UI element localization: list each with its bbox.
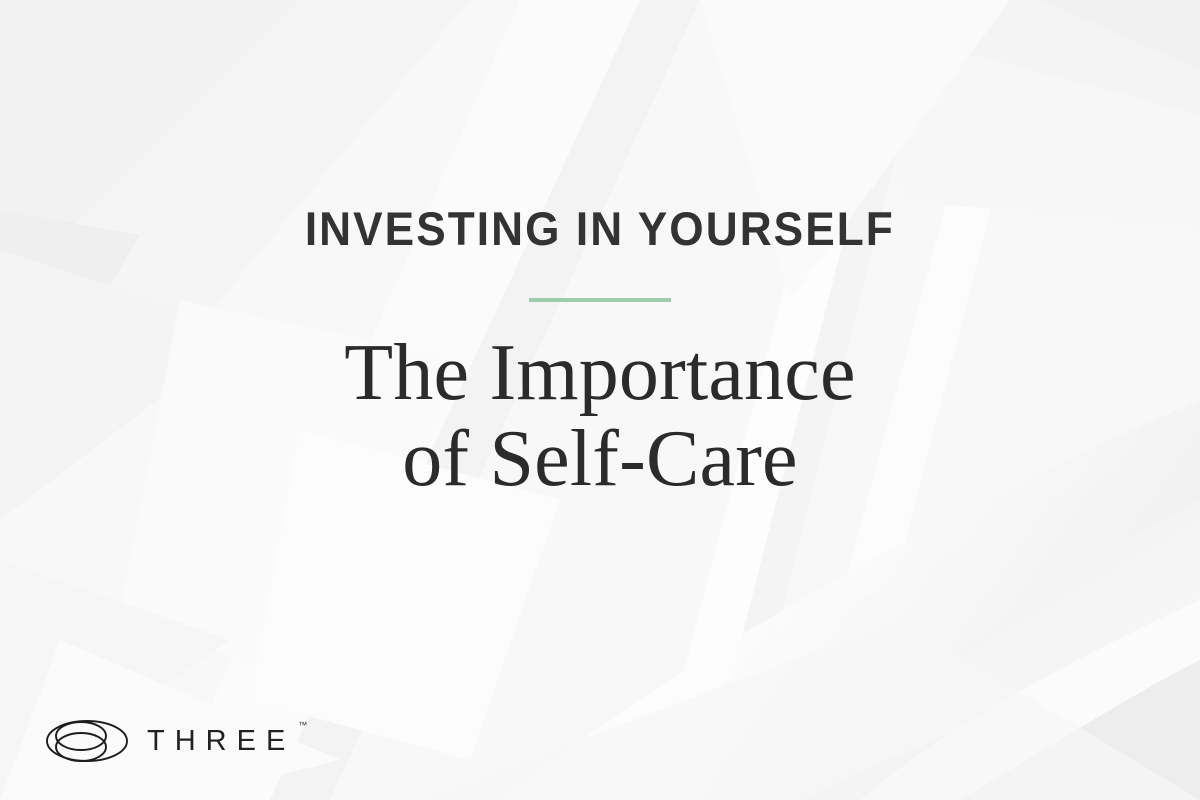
headline-line-1: The Importance: [344, 330, 855, 416]
slide-content: INVESTING IN YOURSELF The Importance of …: [0, 0, 1200, 800]
title-slide: INVESTING IN YOURSELF The Importance of …: [0, 0, 1200, 800]
page-title: The Importance of Self-Care: [344, 330, 855, 503]
brand-wordmark-text: THREE: [147, 725, 295, 757]
accent-divider: [529, 298, 671, 302]
three-rings-icon: [45, 712, 129, 770]
brand-logo: THREE ™: [45, 712, 295, 770]
brand-wordmark: THREE ™: [147, 727, 295, 756]
eyebrow-text: INVESTING IN YOURSELF: [305, 205, 895, 252]
headline-line-2: of Self-Care: [344, 416, 855, 502]
trademark-symbol: ™: [298, 721, 307, 730]
